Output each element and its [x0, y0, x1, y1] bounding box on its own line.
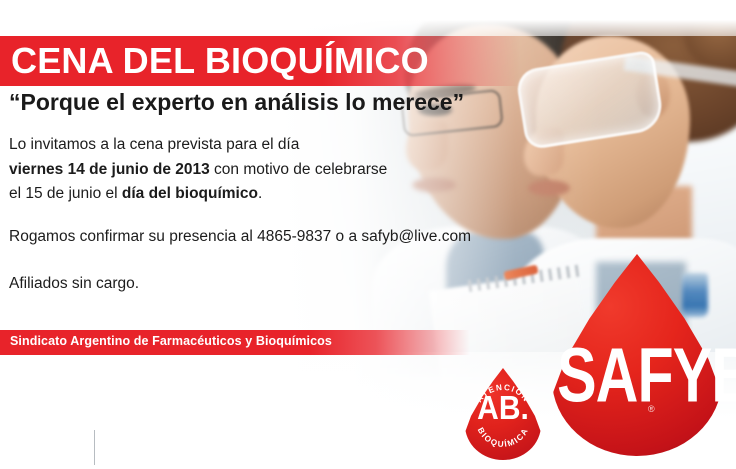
page-title: CENA DEL BIOQUÍMICO [11, 40, 429, 82]
affiliates-note: Afiliados sin cargo. [9, 275, 139, 293]
ab-badge-bottom-arc: BIOQUÍMICA [476, 426, 531, 449]
registered-trademark-icon: ® [648, 404, 655, 414]
rsvp-line: Rogamos confirmar su presencia al 4865-9… [9, 228, 471, 246]
ab-bioquimica-badge: ATENCIÓN BIOQUÍMICA AB. [465, 368, 541, 460]
event-date: viernes 14 de junio de 2013 [9, 161, 210, 178]
invitation-body: Lo invitamos a la cena prevista para el … [9, 133, 387, 207]
flyer-canvas: CENA DEL BIOQUÍMICO “Porque el experto e… [0, 0, 736, 469]
invitation-line-2: viernes 14 de junio de 2013 con motivo d… [9, 158, 387, 183]
invitation-line-1: Lo invitamos a la cena prevista para el … [9, 133, 387, 158]
organization-name: Sindicato Argentino de Farmacéuticos y B… [10, 334, 332, 348]
safyb-logo: SAFYB ® [552, 254, 722, 456]
invitation-line-3: el 15 de junio el día del bioquímico. [9, 182, 387, 207]
tagline: “Porque el experto en análisis lo merece… [9, 88, 464, 117]
ab-badge-center-text: AB. [465, 392, 541, 426]
event-occasion: día del bioquímico [122, 185, 258, 202]
bottom-divider [94, 430, 95, 465]
safyb-wordmark: SAFYB [557, 338, 717, 415]
